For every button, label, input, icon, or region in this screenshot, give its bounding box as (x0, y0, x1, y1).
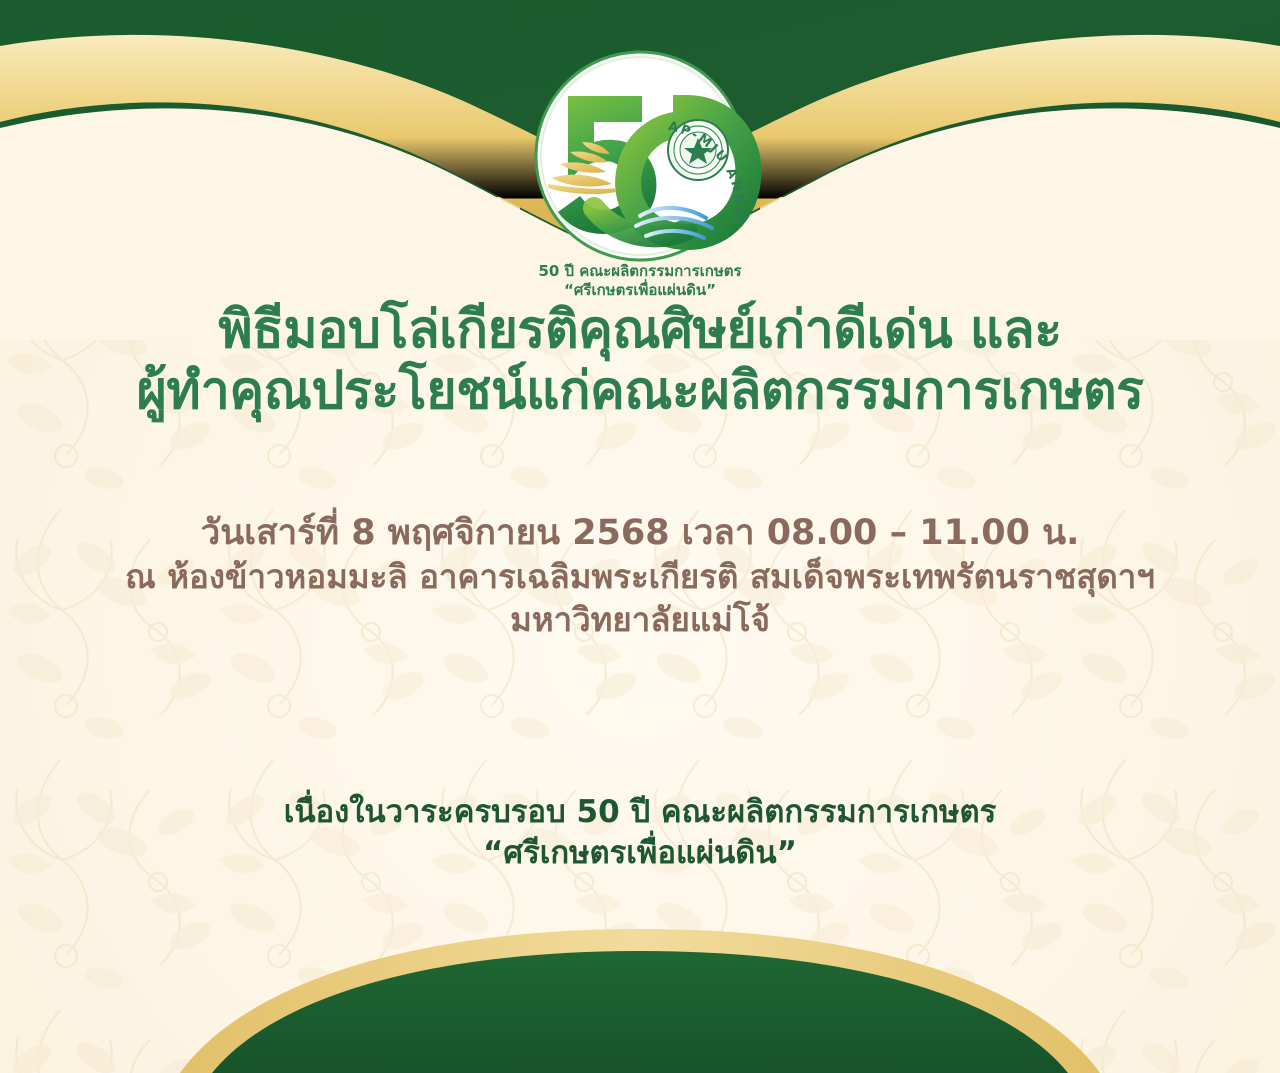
page-title: พิธีมอบโล่เกียรติคุณศิษย์เก่าดีเด่น และ … (0, 300, 1280, 423)
title-line-1: พิธีมอบโล่เกียรติคุณศิษย์เก่าดีเด่น และ (218, 300, 1061, 360)
logo-caption-line2: “ศรีเกษตรเพื่อแผ่นดิน” (564, 279, 716, 299)
title-line-2: ผู้ทำคุณประโยชน์แก่คณะผลิตกรรมการเกษตร (60, 361, 1220, 422)
poster-canvas: AP-MJU ANNIVERSARY 50 ปี คณะผลิตกรรมการเ… (0, 0, 1280, 1073)
event-occasion: เนื่องในวาระครบรอบ 50 ปี คณะผลิตกรรมการเ… (0, 792, 1280, 874)
event-date-time: วันเสาร์ที่ 8 พฤศจิกายน 2568 เวลา 08.00 … (0, 511, 1280, 557)
occasion-line-2: “ศรีเกษตรเพื่อแผ่นดิน” (0, 833, 1280, 874)
logo-graphic: AP-MJU ANNIVERSARY 50 ปี คณะผลิตกรรมการเ… (490, 38, 790, 300)
event-venue-line-2: มหาวิทยาลัยแม่โจ้ (0, 599, 1280, 642)
anniversary-logo: AP-MJU ANNIVERSARY 50 ปี คณะผลิตกรรมการเ… (490, 38, 790, 300)
occasion-line-1: เนื่องในวาระครบรอบ 50 ปี คณะผลิตกรรมการเ… (0, 792, 1280, 833)
footer-green-fill (212, 951, 1068, 1073)
event-venue-line-1: ณ ห้องข้าวหอมมะลิ อาคารเฉลิมพระเกียรติ ส… (0, 556, 1280, 599)
logo-caption-line1: 50 ปี คณะผลิตกรรมการเกษตร (538, 262, 742, 280)
event-details: วันเสาร์ที่ 8 พฤศจิกายน 2568 เวลา 08.00 … (0, 511, 1280, 642)
poster-content: พิธีมอบโล่เกียรติคุณศิษย์เก่าดีเด่น และ … (0, 300, 1280, 874)
green-footer-dome (0, 893, 1280, 1073)
